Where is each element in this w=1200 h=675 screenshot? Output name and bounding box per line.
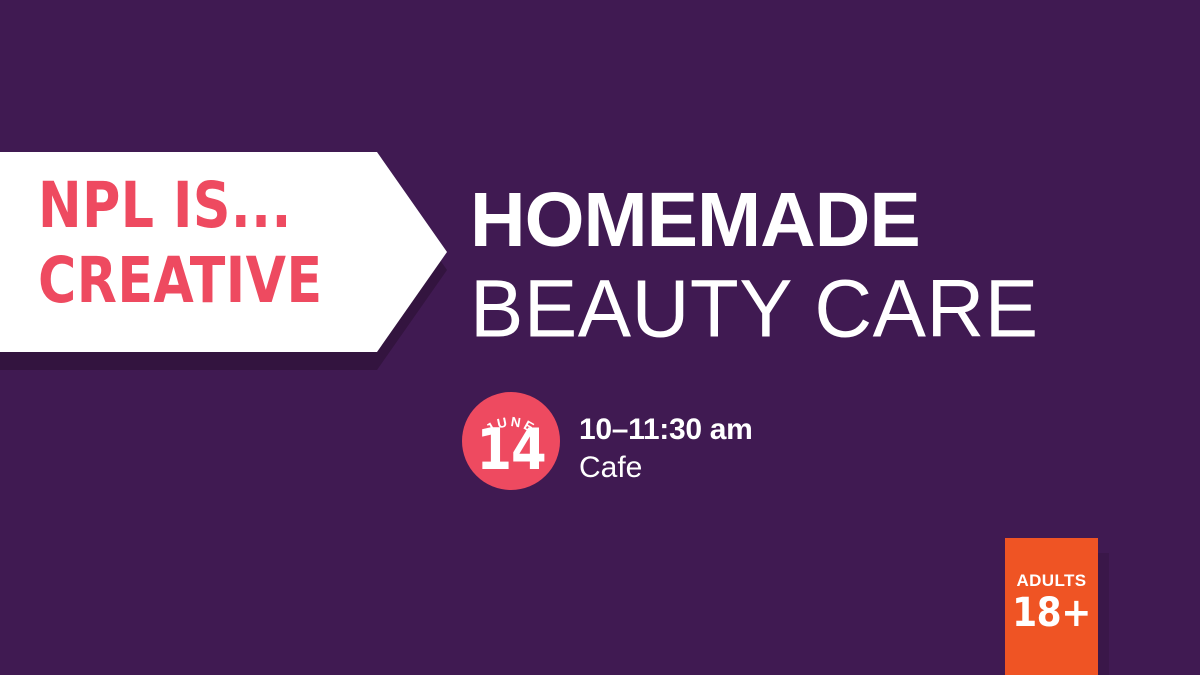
program-ribbon: NPL IS... CREATIVE <box>0 152 470 384</box>
event-title: HOMEMADE BEAUTY CARE <box>470 178 1130 354</box>
age-badge-label: ADULTS <box>1005 571 1098 591</box>
event-location: Cafe <box>579 449 999 487</box>
event-poster: NPL IS... CREATIVE HOMEMADE BEAUTY CARE … <box>0 0 1200 675</box>
event-title-secondary: BEAUTY CARE <box>470 262 1130 356</box>
age-badge: ADULTS 18+ <box>1005 538 1098 675</box>
age-badge-inner: ADULTS 18+ <box>1005 571 1098 635</box>
date-badge: JUNE 14 <box>462 392 560 490</box>
event-title-primary: HOMEMADE <box>470 178 1130 262</box>
event-time: 10–11:30 am <box>579 411 999 449</box>
date-badge-day: 14 <box>462 422 560 479</box>
ribbon-text: NPL IS... CREATIVE <box>38 168 378 318</box>
ribbon-line-one: NPL IS... <box>38 168 351 243</box>
ribbon-line-two: CREATIVE <box>38 243 351 318</box>
event-details: 10–11:30 am Cafe <box>579 411 999 487</box>
age-badge-value: 18+ <box>1005 591 1098 635</box>
